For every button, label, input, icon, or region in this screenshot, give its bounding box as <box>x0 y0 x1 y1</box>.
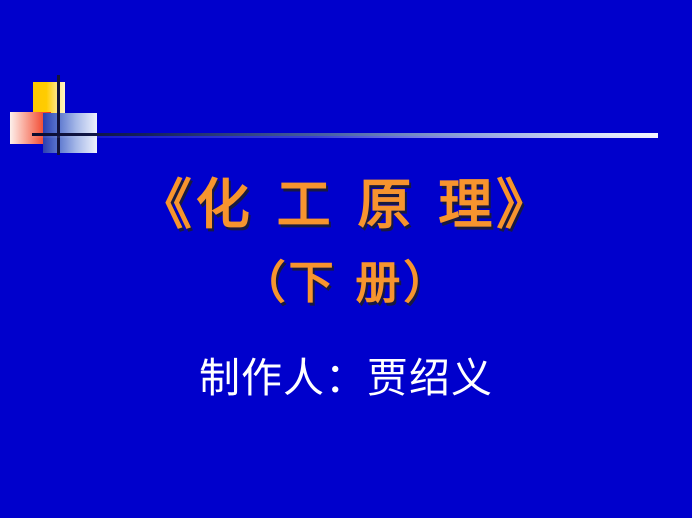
slide-text-block: 《化 工 原 理》 （下 册） 制作人：贾绍义 <box>0 0 692 518</box>
slide-author: 制作人：贾绍义 <box>0 352 692 404</box>
slide-title: 《化 工 原 理》 <box>0 172 692 238</box>
slide-subtitle: （下 册） <box>0 255 692 311</box>
presentation-slide: 《化 工 原 理》 （下 册） 制作人：贾绍义 <box>0 0 692 518</box>
